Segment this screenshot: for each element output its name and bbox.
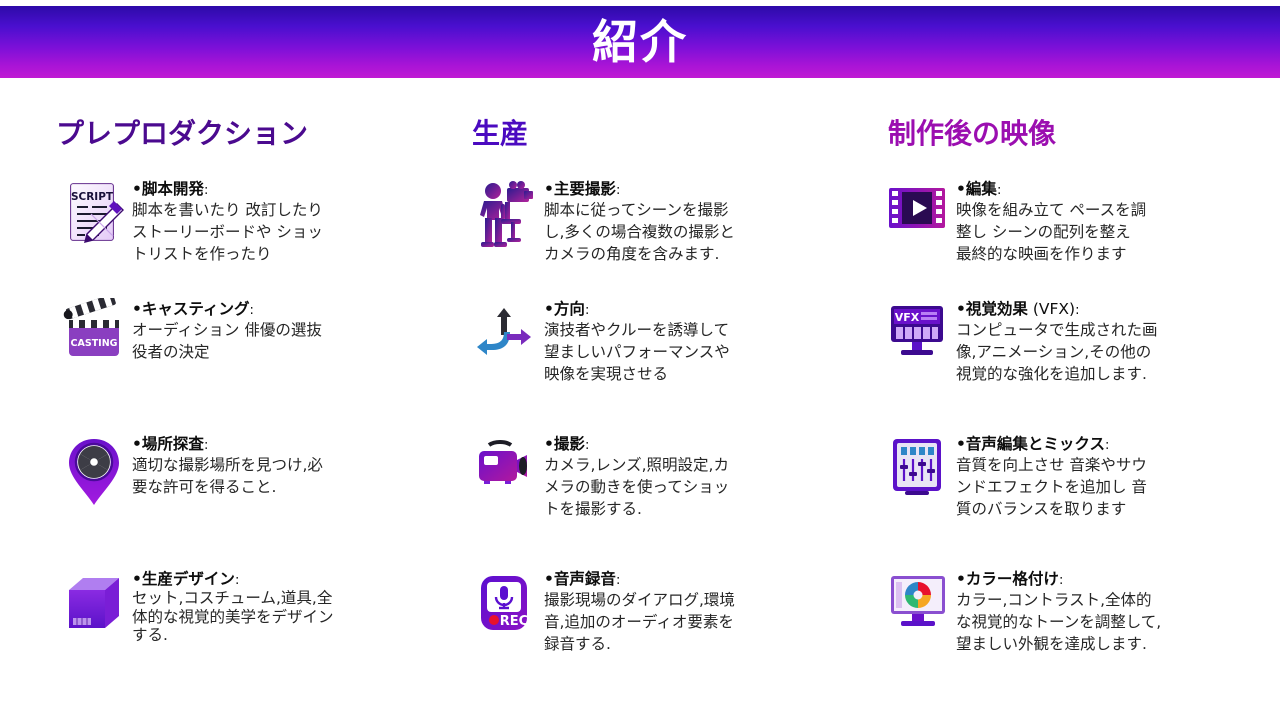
list-item-title: •場所探査: — [132, 435, 323, 454]
columns-container: プレプロダクション SCRIPT — [0, 78, 1280, 720]
list-item-title: •脚本開発: — [132, 180, 323, 199]
column-preproduction: プレプロダクション SCRIPT — [30, 78, 430, 720]
list-item[interactable]: •主要撮影: 脚本に従ってシーンを撮影 し,多くの場合複数の撮影と カメラの角度… — [468, 178, 838, 265]
svg-text:SCRIPT: SCRIPT — [71, 191, 114, 203]
list-item-body: カラー,コントラスト,全体的 な視覚的なトーンを調整して, 望ましい外観を達成し… — [956, 589, 1161, 655]
header-banner: 紹介 — [0, 6, 1280, 78]
list-item-title: •生産デザイン: — [132, 570, 334, 589]
list-item-title: •音声編集とミックス: — [956, 435, 1147, 454]
location-pin-film-reel-icon — [56, 433, 132, 509]
list-item-text: •方向: 演技者やクルーを誘導して 望ましいパフォーマンスや 映像を実現させる — [544, 298, 730, 385]
list-item-text: •音声録音: 撮影現場のダイアログ,環境 音,追加のオーディオ要素を 録音する. — [544, 568, 735, 655]
svg-text:VFX: VFX — [895, 311, 920, 324]
script-document-pencil-icon: SCRIPT — [56, 178, 132, 254]
list-item[interactable]: SCRIPT — [56, 178, 436, 265]
list-item-body: オーディション 俳優の選抜 役者の決定 — [132, 319, 322, 363]
list-item[interactable]: •生産デザイン: セット,コスチューム,道具,全 体的な視覚的美学をデザイン す… — [56, 568, 436, 644]
list-item-title: •主要撮影: — [544, 180, 735, 199]
svg-text:CASTING: CASTING — [71, 338, 118, 349]
direction-arrows-icon — [468, 298, 544, 374]
microphone-rec-icon: REC — [468, 568, 544, 644]
column-postproduction: 制作後の映像 — [860, 78, 1260, 720]
list-item[interactable]: •方向: 演技者やクルーを誘導して 望ましいパフォーマンスや 映像を実現させる — [468, 298, 838, 385]
list-item-text: •場所探査: 適切な撮影場所を見つけ,必 要な許可を得ること. — [132, 433, 323, 498]
list-item-text: •生産デザイン: セット,コスチューム,道具,全 体的な視覚的美学をデザイン す… — [132, 568, 334, 644]
list-item-title: •キャスティング: — [132, 300, 322, 319]
column-heading-2: 生産 — [472, 120, 528, 148]
list-item-body: 演技者やクルーを誘導して 望ましいパフォーマンスや 映像を実現させる — [544, 319, 730, 385]
production-design-box-icon — [56, 568, 132, 644]
list-item[interactable]: •カラー格付け: カラー,コントラスト,全体的 な視覚的なトーンを調整して, 望… — [880, 568, 1260, 655]
slide-root: 紹介 プレプロダクション — [0, 0, 1280, 720]
list-item-body: 脚本に従ってシーンを撮影 し,多くの場合複数の撮影と カメラの角度を含みます. — [544, 199, 735, 265]
list-item-text: •視覚効果 (VFX): コンピュータで生成された画 像,アニメーション,その他… — [956, 298, 1158, 385]
list-item[interactable]: VFX •視覚効果 (VFX): — [880, 298, 1260, 385]
list-item[interactable]: •場所探査: 適切な撮影場所を見つけ,必 要な許可を得ること. — [56, 433, 436, 509]
list-item-title: •カラー格付け: — [956, 570, 1161, 589]
list-item-title: •撮影: — [544, 435, 729, 454]
list-item[interactable]: •音声編集とミックス: 音質を向上させ 音楽やサウ ンドエフェクトを追加し 音 … — [880, 433, 1260, 520]
list-item[interactable]: CASTING •キャスティング: オーディション 俳優の選抜 役者の決定 — [56, 298, 436, 374]
casting-clapperboard-icon: CASTING — [56, 298, 132, 374]
vfx-monitor-icon: VFX — [880, 298, 956, 374]
list-item-body: 脚本を書いたり 改訂したり ストーリーボードや ショッ トリストを作ったり — [132, 199, 323, 265]
list-item[interactable]: REC •音声録音: 撮影現場のダイアログ,環境 音,追加のオーディオ要素を 録… — [468, 568, 838, 655]
list-item-title: •視覚効果 (VFX): — [956, 300, 1158, 319]
column-heading-3: 制作後の映像 — [888, 120, 1056, 148]
list-item-body: 適切な撮影場所を見つけ,必 要な許可を得ること. — [132, 454, 323, 498]
list-item-title: •編集: — [956, 180, 1146, 199]
film-strip-play-icon — [880, 178, 956, 254]
list-item-body: セット,コスチューム,道具,全 体的な視覚的美学をデザイン する. — [132, 589, 334, 644]
svg-text:REC: REC — [500, 614, 528, 629]
list-item-text: •撮影: カメラ,レンズ,照明設定,カ メラの動きを使ってショッ トを撮影する. — [544, 433, 729, 520]
movie-camera-icon — [468, 433, 544, 509]
list-item-text: •キャスティング: オーディション 俳優の選抜 役者の決定 — [132, 298, 322, 363]
list-item-text: •脚本開発: 脚本を書いたり 改訂したり ストーリーボードや ショッ トリストを… — [132, 178, 323, 265]
list-item-body: コンピュータで生成された画 像,アニメーション,その他の 視覚的な強化を追加しま… — [956, 319, 1158, 385]
list-item-body: 映像を組み立て ペースを調 整し シーンの配列を整え 最終的な映画を作ります — [956, 199, 1146, 265]
color-grading-monitor-icon — [880, 568, 956, 644]
list-item-text: •音声編集とミックス: 音質を向上させ 音楽やサウ ンドエフェクトを追加し 音 … — [956, 433, 1147, 520]
list-item-body: カメラ,レンズ,照明設定,カ メラの動きを使ってショッ トを撮影する. — [544, 454, 729, 520]
list-item-title: •音声録音: — [544, 570, 735, 589]
page-title: 紹介 — [592, 19, 688, 65]
list-item-body: 音質を向上させ 音楽やサウ ンドエフェクトを追加し 音 質のバランスを取ります — [956, 454, 1147, 520]
audio-mixer-icon — [880, 433, 956, 509]
list-item-text: •カラー格付け: カラー,コントラスト,全体的 な視覚的なトーンを調整して, 望… — [956, 568, 1161, 655]
list-item[interactable]: •撮影: カメラ,レンズ,照明設定,カ メラの動きを使ってショッ トを撮影する. — [468, 433, 838, 520]
column-production: 生産 — [450, 78, 840, 720]
list-item-text: •編集: 映像を組み立て ペースを調 整し シーンの配列を整え 最終的な映画を作… — [956, 178, 1146, 265]
list-item-body: 撮影現場のダイアログ,環境 音,追加のオーディオ要素を 録音する. — [544, 589, 735, 655]
cameraman-filming-icon — [468, 178, 544, 254]
list-item-text: •主要撮影: 脚本に従ってシーンを撮影 し,多くの場合複数の撮影と カメラの角度… — [544, 178, 735, 265]
column-heading-1: プレプロダクション — [56, 120, 308, 148]
list-item-title: •方向: — [544, 300, 730, 319]
list-item[interactable]: •編集: 映像を組み立て ペースを調 整し シーンの配列を整え 最終的な映画を作… — [880, 178, 1260, 265]
